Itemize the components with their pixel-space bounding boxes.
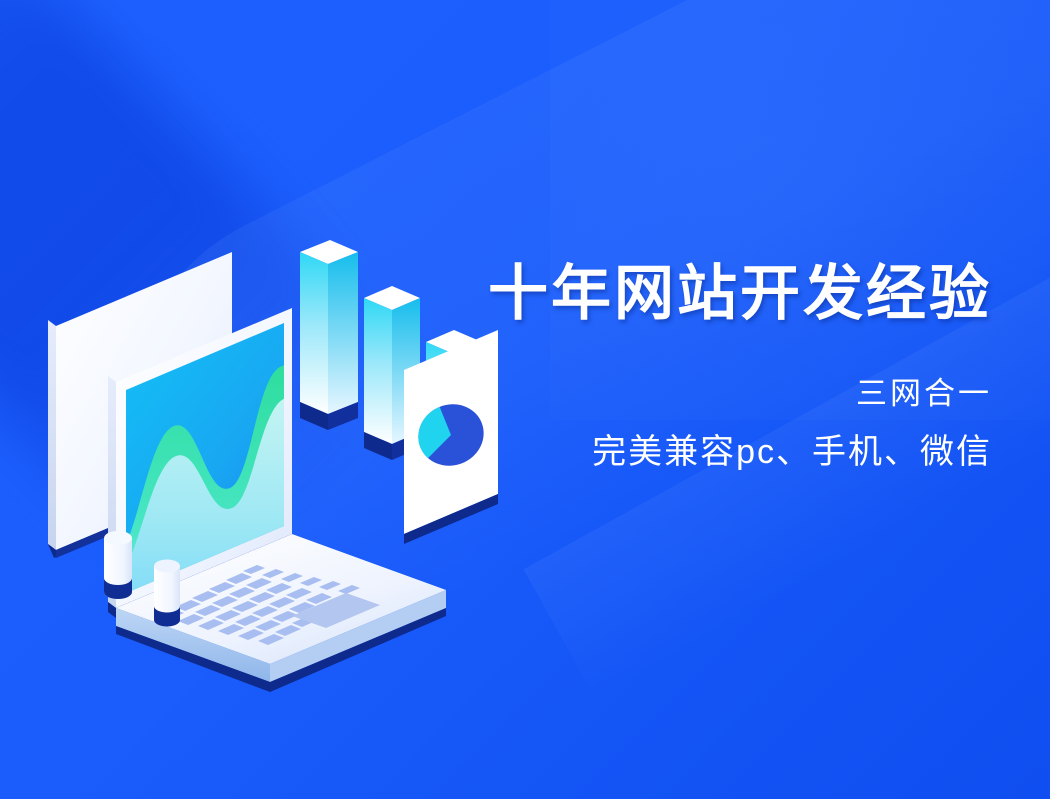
banner-subline-2: 完美兼容pc、手机、微信 xyxy=(432,432,992,473)
bar-column-1 xyxy=(300,240,358,430)
cylinder-left xyxy=(104,531,132,599)
cylinder-right xyxy=(154,560,180,627)
banner-text-block: 十年网站开发经验 三网合一 完美兼容pc、手机、微信 xyxy=(432,262,992,473)
promo-banner: 十年网站开发经验 三网合一 完美兼容pc、手机、微信 xyxy=(0,0,1050,799)
banner-subline-1: 三网合一 xyxy=(432,375,992,412)
banner-headline: 十年网站开发经验 xyxy=(432,262,992,327)
